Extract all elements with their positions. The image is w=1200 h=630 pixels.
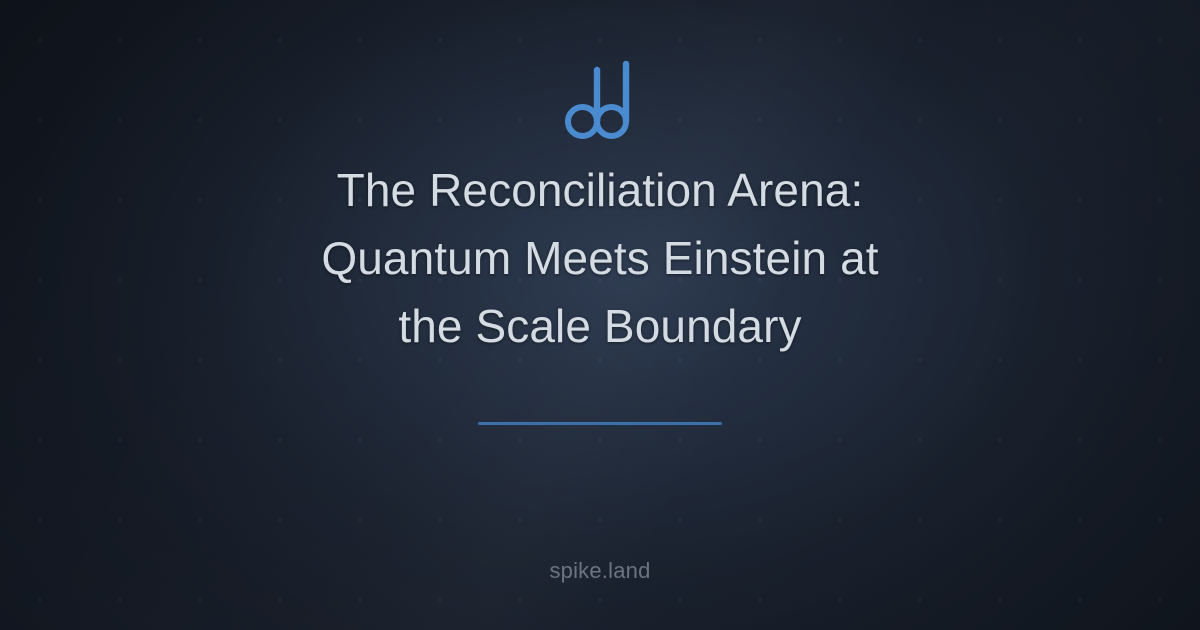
spike-land-logo-icon bbox=[557, 58, 643, 144]
page-title-line-1: The Reconciliation Arena: bbox=[337, 164, 864, 216]
og-card: The Reconciliation Arena: Quantum Meets … bbox=[0, 0, 1200, 630]
site-footer: spike.land bbox=[0, 558, 1200, 584]
page-title: The Reconciliation Arena: Quantum Meets … bbox=[270, 156, 930, 360]
site-name-label: spike.land bbox=[549, 558, 650, 583]
title-divider bbox=[478, 422, 722, 425]
card-content: The Reconciliation Arena: Quantum Meets … bbox=[0, 0, 1200, 630]
page-title-line-3: the Scale Boundary bbox=[398, 300, 801, 352]
page-title-line-2: Quantum Meets Einstein at bbox=[321, 232, 878, 284]
